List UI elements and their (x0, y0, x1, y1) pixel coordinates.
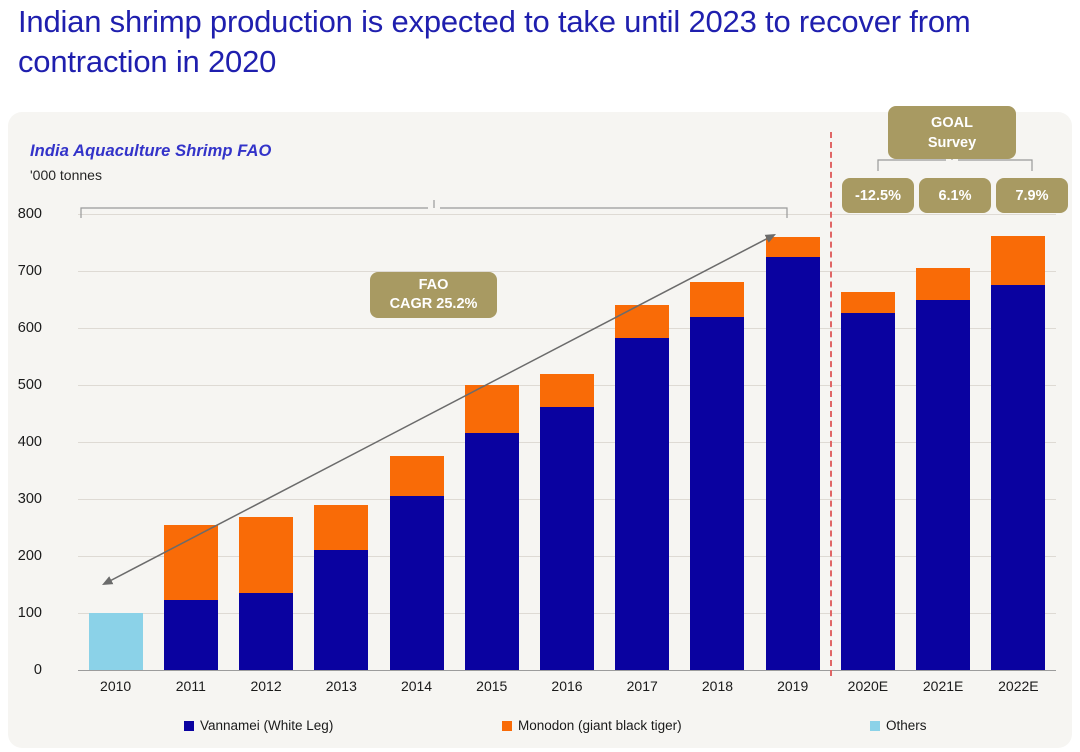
y-axis-tick-600: 600 (0, 320, 42, 336)
bar-column-2010[interactable] (89, 214, 143, 670)
x-axis-label-2020e: 2020E (830, 678, 905, 694)
legend-label: Monodon (giant black tiger) (518, 718, 682, 733)
y-axis-tick-800: 800 (0, 206, 42, 222)
bar-segment-vannamei (239, 593, 293, 670)
chart-legend: Vannamei (White Leg)Monodon (giant black… (8, 718, 1072, 744)
chart-subtitle: India Aquaculture Shrimp FAO (30, 142, 271, 161)
x-axis-label-2018: 2018 (680, 678, 755, 694)
legend-swatch-icon (870, 721, 880, 731)
bar-column-2011[interactable] (164, 214, 218, 670)
x-axis-label-2019: 2019 (755, 678, 830, 694)
bar-segment-monodon (615, 305, 669, 338)
bar-column-2022e[interactable] (991, 214, 1045, 670)
growth-badge-2022e: 7.9% (996, 178, 1068, 213)
plot-area: 0100200300400500600700800 (78, 214, 1056, 670)
bar-segment-vannamei (465, 433, 519, 670)
bar-segment-monodon (164, 525, 218, 601)
bar-segment-vannamei (615, 338, 669, 670)
y-axis-tick-500: 500 (0, 377, 42, 393)
bar-segment-vannamei (991, 285, 1045, 670)
chart-units-label: '000 tonnes (30, 167, 102, 183)
bar-segment-monodon (991, 236, 1045, 285)
slide-root: Indian shrimp production is expected to … (0, 0, 1080, 752)
goal-badge-line2: Survey (928, 133, 976, 153)
x-axis-label-2013: 2013 (304, 678, 379, 694)
legend-label: Others (886, 718, 927, 733)
fao-cagr-badge: FAO CAGR 25.2% (370, 272, 497, 318)
bar-segment-monodon (766, 237, 820, 257)
legend-item-0[interactable]: Vannamei (White Leg) (184, 718, 333, 733)
bar-segment-others (89, 613, 143, 670)
bar-column-2013[interactable] (314, 214, 368, 670)
y-axis-tick-300: 300 (0, 491, 42, 507)
bar-column-2016[interactable] (540, 214, 594, 670)
bar-segment-vannamei (766, 257, 820, 670)
bar-column-2019[interactable] (766, 214, 820, 670)
forecast-divider (830, 132, 832, 676)
bar-segment-monodon (916, 268, 970, 299)
x-axis-label-2015: 2015 (454, 678, 529, 694)
gridline-0 (78, 670, 1056, 671)
bar-segment-monodon (390, 456, 444, 496)
bar-segment-monodon (239, 517, 293, 593)
y-axis-tick-0: 0 (0, 662, 42, 678)
bar-segment-vannamei (390, 496, 444, 670)
goal-badge-line1: GOAL (931, 113, 973, 133)
growth-badge-2020e: -12.5% (842, 178, 914, 213)
bar-segment-vannamei (314, 550, 368, 670)
x-axis-label-2012: 2012 (228, 678, 303, 694)
y-axis-tick-200: 200 (0, 548, 42, 564)
fao-badge-line1: FAO (419, 276, 449, 295)
bar-column-2018[interactable] (690, 214, 744, 670)
legend-swatch-icon (502, 721, 512, 731)
legend-item-2[interactable]: Others (870, 718, 927, 733)
bar-column-2012[interactable] (239, 214, 293, 670)
bar-segment-vannamei (164, 600, 218, 670)
x-axis-label-2021e: 2021E (906, 678, 981, 694)
x-axis-labels: 2010201120122013201420152016201720182019… (78, 678, 1056, 704)
bar-series-group (78, 214, 1056, 670)
bar-segment-monodon (690, 282, 744, 317)
x-axis-label-2014: 2014 (379, 678, 454, 694)
y-axis-tick-100: 100 (0, 605, 42, 621)
bar-segment-vannamei (690, 317, 744, 670)
bar-segment-vannamei (916, 300, 970, 671)
bar-column-2020e[interactable] (841, 214, 895, 670)
fao-badge-line2: CAGR 25.2% (390, 295, 478, 314)
bar-segment-vannamei (540, 407, 594, 670)
growth-badge-2021e: 6.1% (919, 178, 991, 213)
bar-segment-monodon (540, 374, 594, 406)
legend-item-1[interactable]: Monodon (giant black tiger) (502, 718, 682, 733)
bar-segment-monodon (314, 505, 368, 551)
x-axis-label-2017: 2017 (605, 678, 680, 694)
bar-segment-monodon (465, 385, 519, 433)
x-axis-label-2011: 2011 (153, 678, 228, 694)
bar-column-2017[interactable] (615, 214, 669, 670)
bar-segment-monodon (841, 292, 895, 313)
y-axis-tick-700: 700 (0, 263, 42, 279)
chart-card: India Aquaculture Shrimp FAO '000 tonnes… (8, 112, 1072, 748)
legend-label: Vannamei (White Leg) (200, 718, 333, 733)
legend-swatch-icon (184, 721, 194, 731)
x-axis-label-2010: 2010 (78, 678, 153, 694)
bar-segment-vannamei (841, 313, 895, 670)
x-axis-label-2016: 2016 (529, 678, 604, 694)
y-axis-tick-400: 400 (0, 434, 42, 450)
x-axis-label-2022e: 2022E (981, 678, 1056, 694)
goal-survey-badge: GOAL Survey (888, 106, 1016, 159)
bar-column-2021e[interactable] (916, 214, 970, 670)
page-title: Indian shrimp production is expected to … (18, 2, 1068, 82)
